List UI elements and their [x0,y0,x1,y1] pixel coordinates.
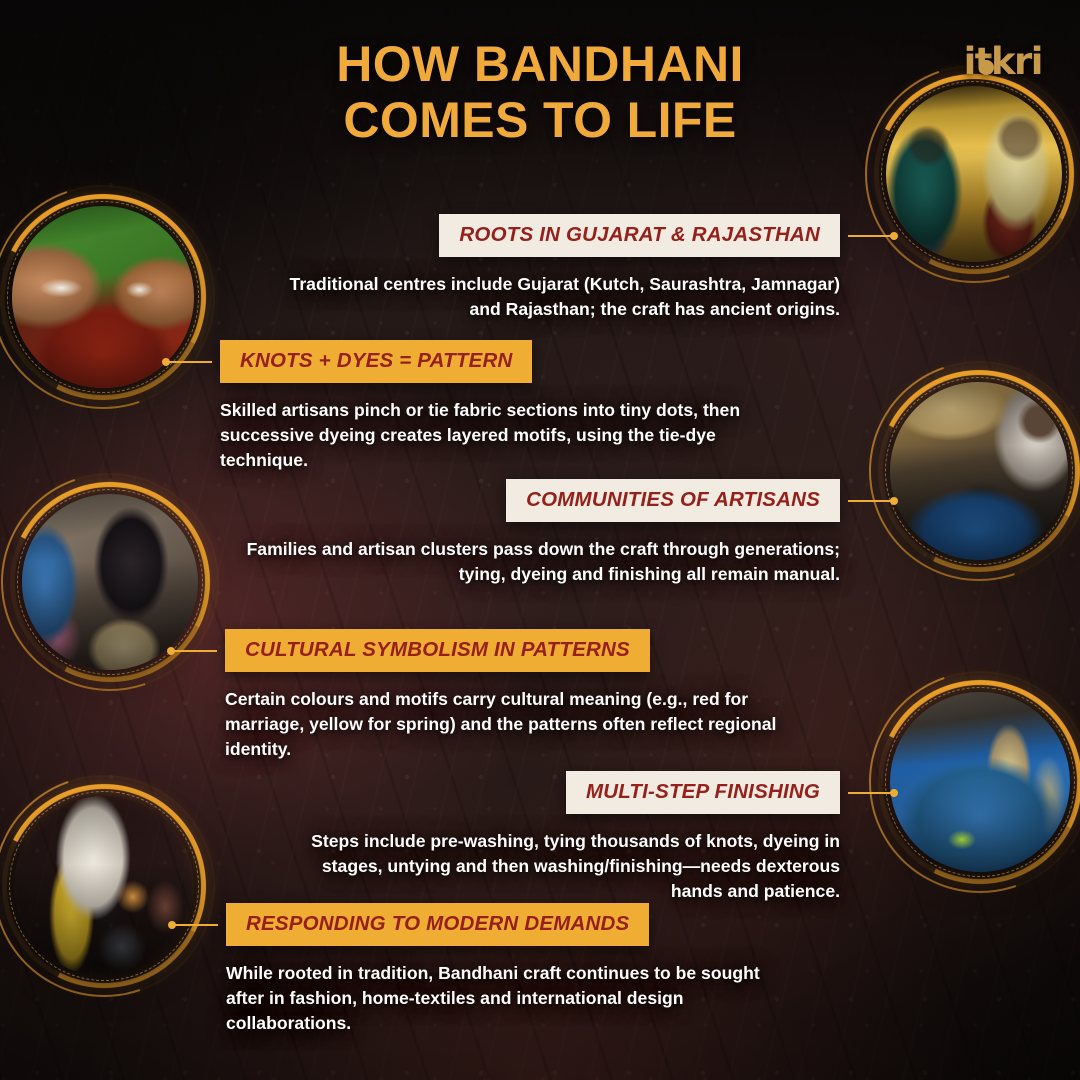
section-symbolism: CULTURAL SYMBOLISM IN PATTERNS Certain c… [225,629,785,762]
section-body-modern-demands: While rooted in tradition, Bandhani craf… [226,961,786,1036]
section-label-text: CULTURAL SYMBOLISM IN PATTERNS [245,638,630,661]
section-label-text: RESPONDING TO MODERN DEMANDS [246,912,629,935]
section-label-text: MULTI-STEP FINISHING [586,780,820,803]
connector-line-icon [848,235,894,237]
section-label-communities[interactable]: COMMUNITIES OF ARTISANS [506,479,840,522]
photo-dyer-at-blue-tub [890,382,1068,560]
section-body-roots: Traditional centres include Gujarat (Kut… [270,272,840,322]
section-label-roots[interactable]: ROOTS IN GUJARAT & RAJASTHAN [439,214,840,257]
connector-line-icon [172,924,218,926]
connector-line-icon [848,500,894,502]
logo-dot-icon [979,60,994,75]
section-label-finishing[interactable]: MULTI-STEP FINISHING [566,771,840,814]
section-body-knots-dyes: Skilled artisans pinch or tie fabric sec… [220,398,765,473]
section-body-finishing: Steps include pre-washing, tying thousan… [310,829,840,904]
page-title-line-2: COMES TO LIFE [0,92,1080,148]
section-finishing: MULTI-STEP FINISHING Steps include pre-w… [310,771,840,904]
page-title: HOW BANDHANI COMES TO LIFE [0,36,1080,148]
connector-line-icon [171,650,217,652]
logo-text-end: kri [991,40,1042,83]
section-modern-demands: RESPONDING TO MODERN DEMANDS While roote… [226,903,786,1036]
section-label-symbolism[interactable]: CULTURAL SYMBOLISM IN PATTERNS [225,629,650,672]
section-body-communities: Families and artisan clusters pass down … [235,537,840,587]
photo-dyer-lifting-skein [14,796,194,976]
itokri-logo[interactable]: itkri [964,40,1042,83]
photo-blue-dye-vat [890,692,1070,872]
connector-line-icon [848,792,894,794]
section-body-symbolism: Certain colours and motifs carry cultura… [225,687,785,762]
section-label-modern-demands[interactable]: RESPONDING TO MODERN DEMANDS [226,903,649,946]
section-label-text: COMMUNITIES OF ARTISANS [526,488,820,511]
connector-line-icon [166,361,212,363]
section-label-text: KNOTS + DYES = PATTERN [240,349,512,372]
page-title-line-1: HOW BANDHANI [336,36,744,92]
section-label-text: ROOTS IN GUJARAT & RAJASTHAN [459,223,820,246]
section-communities: COMMUNITIES OF ARTISANS Families and art… [235,479,840,587]
infographic-canvas: HOW BANDHANI COMES TO LIFE itkri [0,0,1080,1080]
section-knots-dyes: KNOTS + DYES = PATTERN Skilled artisans … [220,340,765,473]
photo-women-in-courtyard [22,494,198,670]
section-roots: ROOTS IN GUJARAT & RAJASTHAN Traditional… [270,214,840,322]
section-label-knots-dyes[interactable]: KNOTS + DYES = PATTERN [220,340,532,383]
